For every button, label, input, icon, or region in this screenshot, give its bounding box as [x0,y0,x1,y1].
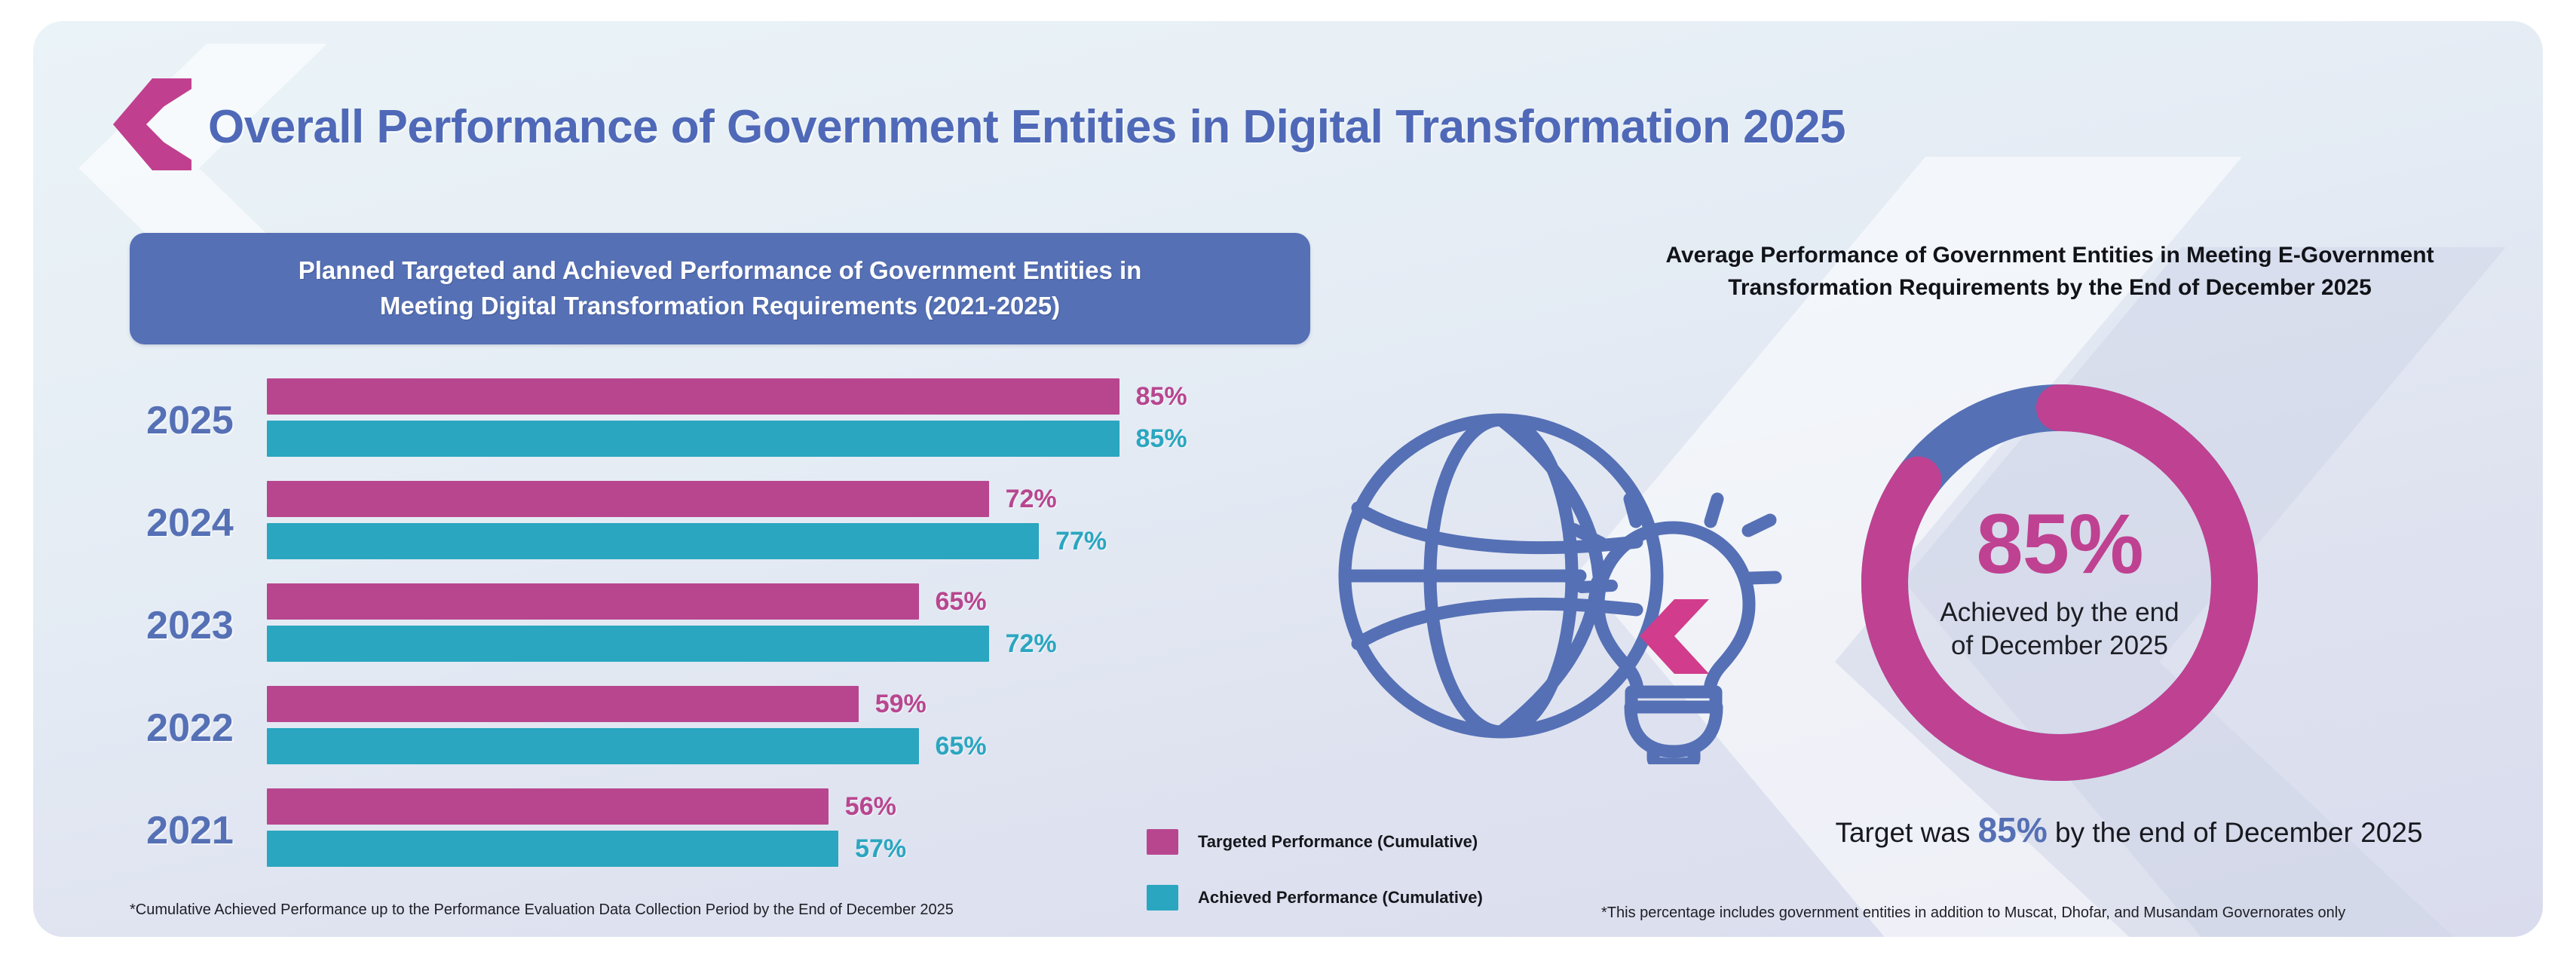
bar-row: 2023 65% 72% [130,574,1336,677]
right-footnote: *This percentage includes government ent… [1601,904,2543,922]
targeted-bar-label: 85% [1136,382,1187,412]
bar-row-year: 2021 [130,808,250,853]
achieved-bar-wrap: 72% [267,626,1336,662]
targeted-bar-label: 56% [845,792,896,822]
bar-row-year: 2023 [130,603,250,648]
left-panel-heading-line2: Meeting Digital Transformation Requireme… [177,289,1263,324]
legend-label-targeted: Targeted Performance (Cumulative) [1198,832,1478,852]
targeted-bar [267,481,989,517]
targeted-bar-label: 59% [875,690,927,719]
achieved-bar [267,523,1039,559]
left-panel-heading-line1: Planned Targeted and Achieved Performanc… [177,253,1263,289]
left-footnote: *Cumulative Achieved Performance up to t… [130,901,954,919]
targeted-bar-label: 72% [1006,485,1057,514]
legend-item-achieved: Achieved Performance (Cumulative) [1147,883,1539,912]
bar-row-bars: 85% 85% [267,378,1336,457]
legend-item-targeted: Targeted Performance (Cumulative) [1147,828,1539,856]
achieved-bar-label: 65% [936,732,987,761]
achieved-bar-label: 85% [1136,424,1187,454]
left-panel-heading: Planned Targeted and Achieved Performanc… [130,233,1310,344]
target-value: 85% [1978,810,2048,849]
achieved-bar [267,626,989,662]
infographic-card: Overall Performance of Government Entiti… [33,21,2543,937]
chart-legend: Targeted Performance (Cumulative) Achiev… [1147,828,1539,912]
right-panel-heading-line1: Average Performance of Government Entiti… [1582,240,2517,272]
achieved-bar-label: 72% [1006,629,1057,659]
bar-row-year: 2025 [130,398,250,443]
achieved-bar-wrap: 77% [267,523,1336,559]
achieved-bar [267,728,919,764]
page-title: Overall Performance of Government Entiti… [208,100,1845,154]
achieved-bar [267,831,838,867]
donut-chart [1841,364,2278,801]
bar-row-year: 2022 [130,705,250,751]
bar-row-bars: 65% 72% [267,583,1336,662]
target-statement: Target was 85% by the end of December 20… [1744,810,2513,850]
chevron-left-icon [107,75,198,173]
bar-chart: 2025 85% 85% 2024 72 [130,369,1336,882]
bar-row: 2022 59% 65% [130,677,1336,779]
legend-swatch-achieved [1147,885,1178,911]
targeted-bar-label: 65% [936,587,987,617]
bar-row-bars: 72% 77% [267,481,1336,559]
targeted-bar [267,788,829,825]
achieved-bar-label: 77% [1055,527,1107,556]
legend-label-achieved: Achieved Performance (Cumulative) [1198,888,1483,907]
target-suffix: by the end of December 2025 [2048,817,2423,848]
bar-row-bars: 59% 65% [267,686,1336,764]
bar-row: 2024 72% 77% [130,472,1336,574]
targeted-bar-wrap: 59% [267,686,1336,722]
globe-lightbulb-icon [1331,387,1784,764]
targeted-bar-wrap: 85% [267,378,1336,415]
targeted-bar [267,686,859,722]
right-panel-heading: Average Performance of Government Entiti… [1582,240,2517,304]
infographic-canvas: Overall Performance of Government Entiti… [0,0,2576,958]
legend-swatch-targeted [1147,829,1178,855]
left-panel-heading-text: Planned Targeted and Achieved Performanc… [177,253,1263,324]
bar-row-year: 2024 [130,500,250,546]
achieved-bar-wrap: 65% [267,728,1336,764]
right-panel-heading-line2: Transformation Requirements by the End o… [1582,272,2517,305]
targeted-bar-wrap: 65% [267,583,1336,620]
targeted-bar-wrap: 56% [267,788,1336,825]
bar-row: 2025 85% 85% [130,369,1336,472]
achieved-bar-wrap: 85% [267,421,1336,457]
achieved-bar-label: 57% [855,834,906,864]
targeted-bar [267,378,1120,415]
achieved-bar [267,421,1120,457]
targeted-bar-wrap: 72% [267,481,1336,517]
target-prefix: Target was [1835,817,1977,848]
targeted-bar [267,583,919,620]
